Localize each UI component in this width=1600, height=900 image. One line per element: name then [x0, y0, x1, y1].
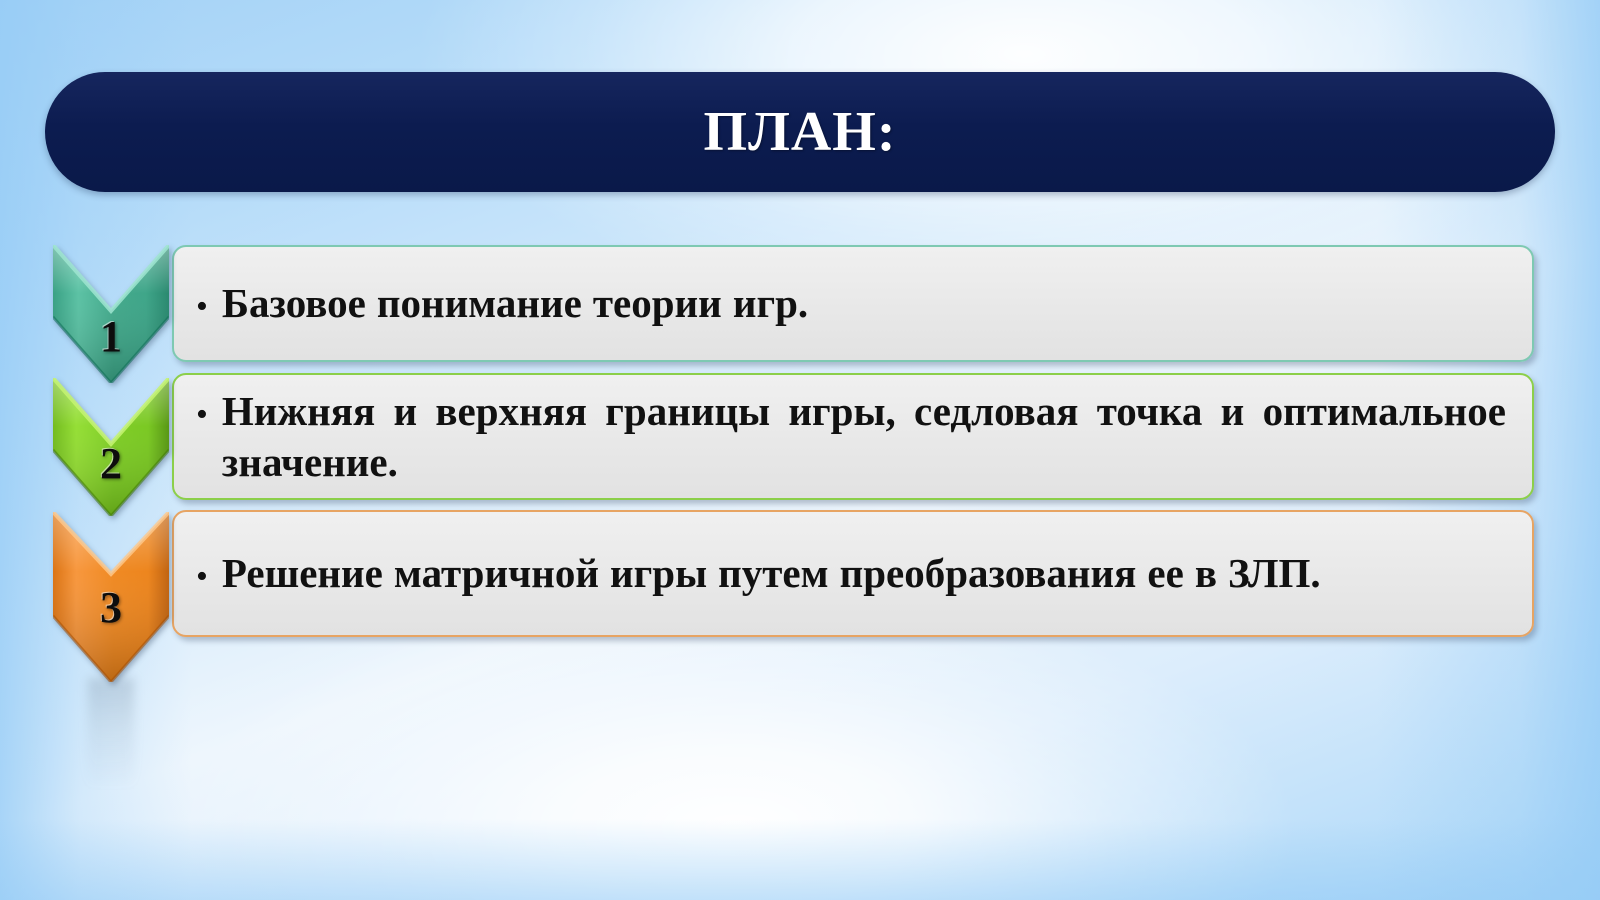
bullet-icon-2: • — [196, 398, 208, 432]
chevron-down-icon-3: 3 — [53, 512, 169, 682]
plan-item-3-text: Решение матричной игры путем преобразова… — [222, 548, 1506, 598]
plan-item-3[interactable]: • Решение матричной игры путем преобразо… — [172, 510, 1534, 637]
plan-item-1-text: Базовое понимание теории игр. — [222, 278, 1506, 328]
bullet-icon-3: • — [196, 560, 208, 594]
chevron-reflection — [88, 678, 134, 788]
bullet-icon-1: • — [196, 290, 208, 324]
slide-canvas: ПЛАН: — [0, 0, 1600, 900]
plan-item-2[interactable]: • Нижняя и верхняя границы игры, седлова… — [172, 373, 1534, 500]
plan-item-1[interactable]: • Базовое понимание теории игр. — [172, 245, 1534, 362]
chevron-down-icon-1: 1 — [53, 245, 169, 383]
chevron-down-icon-2: 2 — [53, 378, 169, 516]
plan-item-2-text: Нижняя и верхняя границы игры, седловая … — [222, 386, 1506, 486]
plan-list: 1 • Базовое понимание теории игр. — [0, 0, 1600, 900]
